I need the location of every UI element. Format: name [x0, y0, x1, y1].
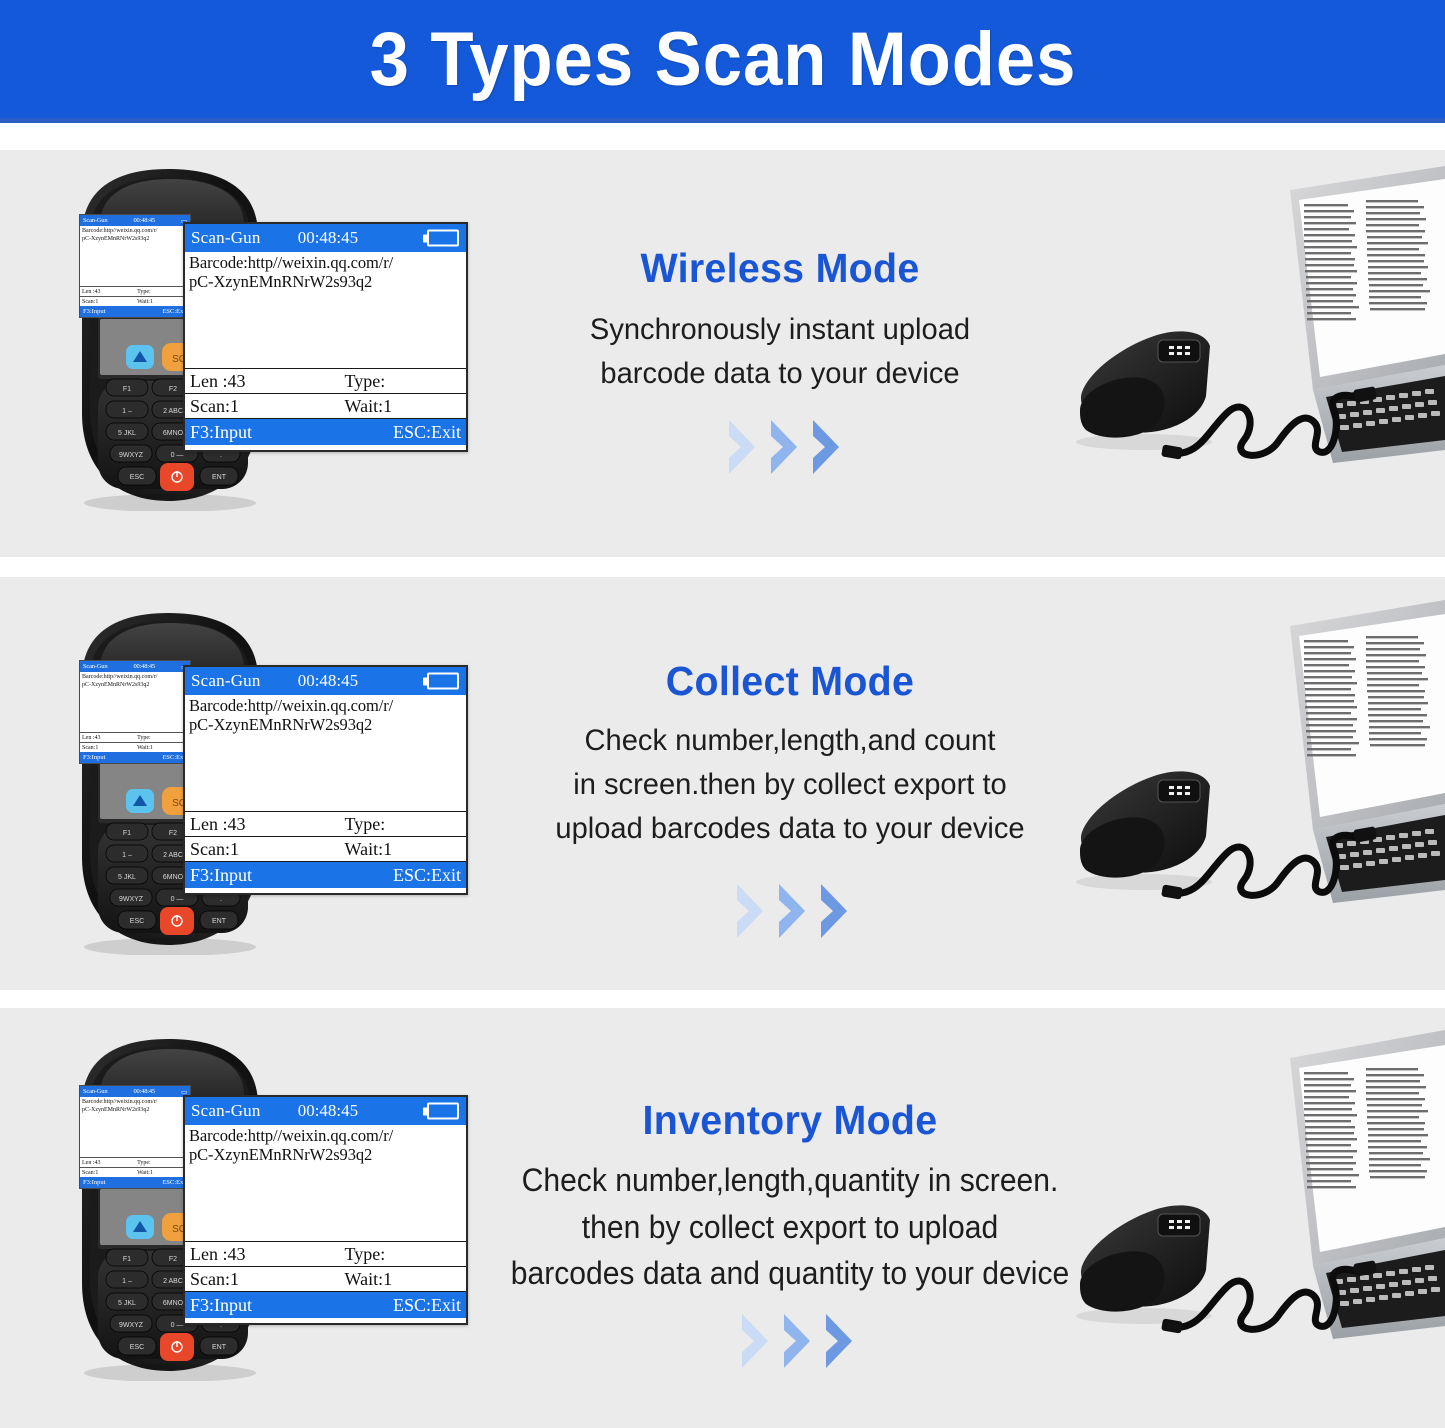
footer-input-hint: F3:Input	[190, 422, 252, 443]
screen-titlebar: Scan-Gun 00:48:45	[185, 224, 466, 252]
scan-value: Scan:1	[190, 1269, 345, 1290]
mini-status-rows: Len :43 Type: Scan:1 Wait:1	[80, 732, 190, 752]
wait-value: Wait:1	[345, 1269, 393, 1290]
len-value: Len :43	[190, 814, 345, 835]
screen-barcode-area: Barcode:http//weixin.qq.com/r/ pC-XzynEM…	[185, 1125, 466, 1241]
screen-clock: 00:48:45	[298, 228, 358, 248]
screen-clock: 00:48:45	[298, 671, 358, 691]
status-row-len: Len :43 Type:	[185, 812, 466, 837]
mini-row-scan: Scan:1 Wait:1	[80, 296, 190, 306]
cradle-and-laptop-3	[1058, 1020, 1445, 1390]
footer-input-hint: F3:Input	[190, 1295, 252, 1316]
screen-barcode-area: Barcode:http//weixin.qq.com/r/ pC-XzynEM…	[185, 695, 466, 811]
mini-type: Type:	[137, 1160, 151, 1166]
mini-title: Scan-Gun	[83, 663, 107, 670]
screen-footer: F3:Input ESC:Exit	[185, 419, 466, 445]
mini-barcode-line-2: pC-XzynEMnRNrW2s93q2	[82, 236, 188, 244]
scan-value: Scan:1	[190, 839, 345, 860]
mini-footer-left: F3:Input	[83, 1179, 105, 1186]
barcode-line-1: Barcode:http//weixin.qq.com/r/	[189, 696, 463, 715]
header-divider	[0, 118, 1445, 123]
status-row-scan: Scan:1 Wait:1	[185, 1267, 466, 1292]
status-row-len: Len :43 Type:	[185, 369, 466, 394]
chevron-icon-light	[725, 418, 763, 476]
mini-titlebar: Scan-Gun 00:48:45 ▭	[80, 215, 190, 226]
svg-text:1 –: 1 –	[122, 408, 132, 415]
text-block-collect: Collect Mode Check number,length,and cou…	[520, 658, 1060, 850]
screen-footer: F3:Input ESC:Exit	[185, 862, 466, 888]
mini-time: 00:48:45	[133, 1088, 155, 1095]
chevron-icon-light	[733, 882, 771, 940]
chevron-icon-dark	[817, 882, 855, 940]
svg-text:9WXYZ: 9WXYZ	[119, 452, 144, 459]
chevron-icon-mid	[780, 1312, 818, 1370]
type-value: Type:	[345, 1244, 386, 1265]
mode-desc-inventory-line-3: barcodes data and quantity to your devic…	[480, 1250, 1100, 1297]
chevron-icon-mid	[775, 882, 813, 940]
barcode-line-1: Barcode:http//weixin.qq.com/r/	[189, 1126, 463, 1145]
mini-footer: F3:Input ESC:Exit	[80, 1177, 190, 1188]
battery-full-icon	[423, 673, 459, 690]
mini-barcode-text: Barcode:http//weixin.qq.com/r/ pC-XzynEM…	[80, 226, 190, 286]
svg-text:.: .	[220, 896, 222, 903]
svg-text:ESC: ESC	[130, 474, 144, 481]
footer-input-hint: F3:Input	[190, 865, 252, 886]
svg-text:.: .	[220, 452, 222, 459]
mode-desc-collect-line-1: Check number,length,and count	[528, 719, 1052, 763]
svg-text:0 —: 0 —	[171, 452, 184, 459]
svg-text:F2: F2	[169, 830, 177, 837]
mode-desc-collect-line-2: in screen.then by collect export to	[528, 763, 1052, 807]
svg-text:0 —: 0 —	[171, 1322, 184, 1329]
footer-exit-hint: ESC:Exit	[393, 1295, 461, 1316]
mini-status-rows: Len :43 Type: Scan:1 Wait:1	[80, 286, 190, 306]
scan-value: Scan:1	[190, 396, 345, 417]
svg-text:5 JKL: 5 JKL	[118, 430, 136, 437]
barcode-line-2: pC-XzynEMnRNrW2s93q2	[189, 1145, 463, 1164]
mini-len: Len :43	[82, 735, 137, 741]
mode-title-inventory: Inventory Mode	[473, 1097, 1107, 1144]
mini-time: 00:48:45	[133, 663, 155, 670]
footer-exit-hint: ESC:Exit	[393, 422, 461, 443]
mini-time: 00:48:45	[133, 217, 155, 224]
screen-title: Scan-Gun	[191, 1101, 261, 1121]
mini-barcode-text: Barcode:http//weixin.qq.com/r/ pC-XzynEM…	[80, 1097, 190, 1157]
mini-len: Len :43	[82, 289, 137, 295]
type-value: Type:	[345, 371, 386, 392]
mini-type: Type:	[137, 289, 151, 295]
svg-text:2 ABC: 2 ABC	[163, 408, 183, 415]
mini-row-scan: Scan:1 Wait:1	[80, 742, 190, 752]
svg-text:F2: F2	[169, 1256, 177, 1263]
screen-status-rows: Len :43 Type: Scan:1 Wait:1	[185, 1241, 466, 1292]
svg-text:F1: F1	[123, 830, 131, 837]
mini-footer: F3:Input ESC:Exit	[80, 306, 190, 317]
mini-row-scan: Scan:1 Wait:1	[80, 1167, 190, 1177]
mini-barcode-text: Barcode:http//weixin.qq.com/r/ pC-XzynEM…	[80, 672, 190, 732]
mini-wait: Wait:1	[137, 745, 153, 751]
mini-barcode-line-2: pC-XzynEMnRNrW2s93q2	[82, 1107, 188, 1115]
svg-text:1 –: 1 –	[122, 852, 132, 859]
mini-row-len: Len :43 Type:	[80, 1157, 190, 1167]
status-row-scan: Scan:1 Wait:1	[185, 837, 466, 862]
chevron-icon-mid	[767, 418, 805, 476]
mini-status-rows: Len :43 Type: Scan:1 Wait:1	[80, 1157, 190, 1177]
mode-desc-wireless-line-1: Synchronously instant upload	[528, 308, 1032, 352]
mini-scan: Scan:1	[82, 1170, 137, 1176]
svg-text:F2: F2	[169, 386, 177, 393]
mini-scan: Scan:1	[82, 745, 137, 751]
mini-title: Scan-Gun	[83, 217, 107, 224]
screen-status-rows: Len :43 Type: Scan:1 Wait:1	[185, 811, 466, 862]
chevron-icon-dark	[809, 418, 847, 476]
svg-text:ENT: ENT	[212, 1344, 227, 1351]
svg-text:5 JKL: 5 JKL	[118, 1300, 136, 1307]
device-screen-small-1: Scan-Gun 00:48:45 ▭ Barcode:http//weixin…	[79, 214, 191, 318]
mini-barcode-line-2: pC-XzynEMnRNrW2s93q2	[82, 682, 188, 690]
svg-text:2 ABC: 2 ABC	[163, 852, 183, 859]
svg-text:5 JKL: 5 JKL	[118, 874, 136, 881]
mini-footer: F3:Input ESC:Exit	[80, 752, 190, 763]
svg-text:ESC: ESC	[130, 1344, 144, 1351]
wait-value: Wait:1	[345, 396, 393, 417]
infographic-page: 3 Types Scan Modes	[0, 0, 1445, 1428]
svg-text:6MNO: 6MNO	[163, 874, 184, 881]
mini-wait: Wait:1	[137, 1170, 153, 1176]
mini-wait: Wait:1	[137, 299, 153, 305]
triple-chevron-right-icon-2	[733, 882, 855, 940]
mini-footer-left: F3:Input	[83, 754, 105, 761]
footer-exit-hint: ESC:Exit	[393, 865, 461, 886]
mode-desc-inventory-line-2: then by collect export to upload	[480, 1204, 1100, 1251]
scanner-screen-enlarged-1: Scan-Gun 00:48:45 Barcode:http//weixin.q…	[183, 222, 468, 452]
mini-type: Type:	[137, 735, 151, 741]
mode-title-wireless: Wireless Mode	[530, 245, 1029, 292]
page-title: 3 Types Scan Modes	[369, 16, 1076, 103]
screen-title: Scan-Gun	[191, 228, 261, 248]
barcode-line-1: Barcode:http//weixin.qq.com/r/	[189, 253, 463, 272]
text-block-wireless: Wireless Mode Synchronously instant uplo…	[520, 245, 1040, 396]
svg-text:9WXYZ: 9WXYZ	[119, 896, 144, 903]
mini-titlebar: Scan-Gun 00:48:45 ▭	[80, 661, 190, 672]
battery-full-icon	[423, 1103, 459, 1120]
svg-text:ENT: ENT	[212, 918, 227, 925]
svg-text:6MNO: 6MNO	[163, 1300, 184, 1307]
mini-title: Scan-Gun	[83, 1088, 107, 1095]
header-banner: 3 Types Scan Modes	[0, 0, 1445, 118]
chevron-icon-dark	[822, 1312, 860, 1370]
screen-titlebar: Scan-Gun 00:48:45	[185, 1097, 466, 1125]
mode-desc-wireless-line-2: barcode data to your device	[528, 352, 1032, 396]
mini-len: Len :43	[82, 1160, 137, 1166]
mini-row-len: Len :43 Type:	[80, 732, 190, 742]
svg-text:0 —: 0 —	[171, 896, 184, 903]
battery-full-icon	[423, 230, 459, 247]
svg-text:9WXYZ: 9WXYZ	[119, 1322, 144, 1329]
svg-text:ESC: ESC	[130, 918, 144, 925]
scanner-screen-enlarged-2: Scan-Gun 00:48:45 Barcode:http//weixin.q…	[183, 665, 468, 895]
type-value: Type:	[345, 814, 386, 835]
mini-barcode-line-1: Barcode:http//weixin.qq.com/r/	[82, 1099, 188, 1107]
status-row-len: Len :43 Type:	[185, 1242, 466, 1267]
status-row-scan: Scan:1 Wait:1	[185, 394, 466, 419]
mode-title-collect: Collect Mode	[531, 658, 1049, 705]
triple-chevron-right-icon-3	[738, 1312, 860, 1370]
text-block-inventory: Inventory Mode Check number,length,quant…	[460, 1097, 1120, 1297]
mini-barcode-line-1: Barcode:http//weixin.qq.com/r/	[82, 228, 188, 236]
mini-barcode-line-1: Barcode:http//weixin.qq.com/r/	[82, 674, 188, 682]
screen-titlebar: Scan-Gun 00:48:45	[185, 667, 466, 695]
device-screen-small-3: Scan-Gun 00:48:45 ▭ Barcode:http//weixin…	[79, 1085, 191, 1189]
svg-text:F1: F1	[123, 1256, 131, 1263]
svg-text:1 –: 1 –	[122, 1278, 132, 1285]
cradle-and-laptop-1	[1058, 160, 1445, 510]
scanner-screen-enlarged-3: Scan-Gun 00:48:45 Barcode:http//weixin.q…	[183, 1095, 468, 1325]
device-screen-small-2: Scan-Gun 00:48:45 ▭ Barcode:http//weixin…	[79, 660, 191, 764]
svg-text:ENT: ENT	[212, 474, 227, 481]
wait-value: Wait:1	[345, 839, 393, 860]
cradle-and-laptop-2	[1058, 592, 1445, 952]
barcode-line-2: pC-XzynEMnRNrW2s93q2	[189, 272, 463, 291]
mode-desc-collect-line-3: upload barcodes data to your device	[528, 807, 1052, 851]
mini-titlebar: Scan-Gun 00:48:45 ▭	[80, 1086, 190, 1097]
svg-text:6MNO: 6MNO	[163, 430, 184, 437]
len-value: Len :43	[190, 1244, 345, 1265]
triple-chevron-right-icon-1	[725, 418, 847, 476]
barcode-line-2: pC-XzynEMnRNrW2s93q2	[189, 715, 463, 734]
screen-barcode-area: Barcode:http//weixin.qq.com/r/ pC-XzynEM…	[185, 252, 466, 368]
screen-footer: F3:Input ESC:Exit	[185, 1292, 466, 1318]
chevron-icon-light	[738, 1312, 776, 1370]
mini-scan: Scan:1	[82, 299, 137, 305]
svg-text:2 ABC: 2 ABC	[163, 1278, 183, 1285]
mini-footer-left: F3:Input	[83, 308, 105, 315]
svg-text:F1: F1	[123, 386, 131, 393]
mode-desc-inventory-line-1: Check number,length,quantity in screen.	[480, 1157, 1100, 1204]
screen-status-rows: Len :43 Type: Scan:1 Wait:1	[185, 368, 466, 419]
len-value: Len :43	[190, 371, 345, 392]
mini-row-len: Len :43 Type:	[80, 286, 190, 296]
screen-title: Scan-Gun	[191, 671, 261, 691]
screen-clock: 00:48:45	[298, 1101, 358, 1121]
